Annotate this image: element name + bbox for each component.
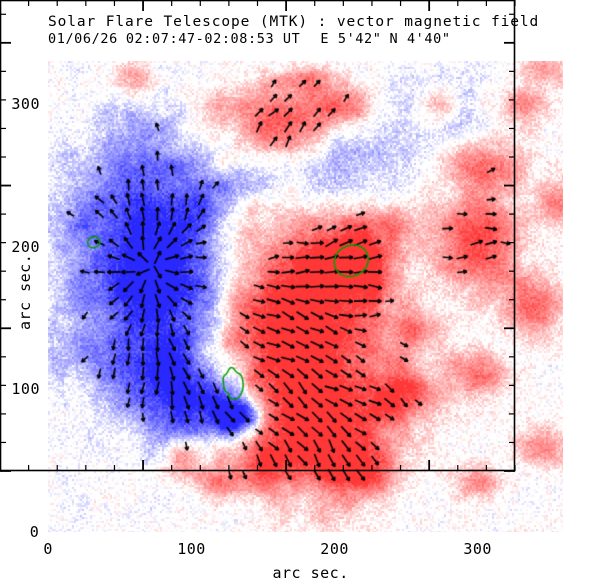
observation-date: 01/06/26 xyxy=(48,31,118,47)
x-tick-label: 300 xyxy=(463,540,492,558)
magnetogram-figure: Solar Flare Telescope (MTK) : vector mag… xyxy=(0,0,612,585)
figure-subtitle: 01/06/2602:07:47-02:08:53 UTE 5'42"N 4'4… xyxy=(48,31,588,47)
pointing-ew: E 5'42" xyxy=(320,31,381,47)
x-tick-label: 0 xyxy=(43,540,53,558)
x-tick-label: 100 xyxy=(177,540,206,558)
magnetogram-image xyxy=(48,61,563,532)
y-tick-label: 100 xyxy=(11,380,40,398)
figure-title-block: Solar Flare Telescope (MTK) : vector mag… xyxy=(48,14,588,47)
figure-title: Solar Flare Telescope (MTK) : vector mag… xyxy=(48,14,588,31)
pointing-ns: N 4'40" xyxy=(389,31,450,47)
y-tick-label: 300 xyxy=(11,95,40,113)
y-axis-title: arc sec. xyxy=(16,253,34,329)
plot-area xyxy=(48,61,563,532)
x-tick-label: 200 xyxy=(320,540,349,558)
x-axis-title: arc sec. xyxy=(273,564,349,582)
observation-time: 02:07:47-02:08:53 UT xyxy=(126,31,301,47)
y-tick-label: 0 xyxy=(30,523,40,541)
